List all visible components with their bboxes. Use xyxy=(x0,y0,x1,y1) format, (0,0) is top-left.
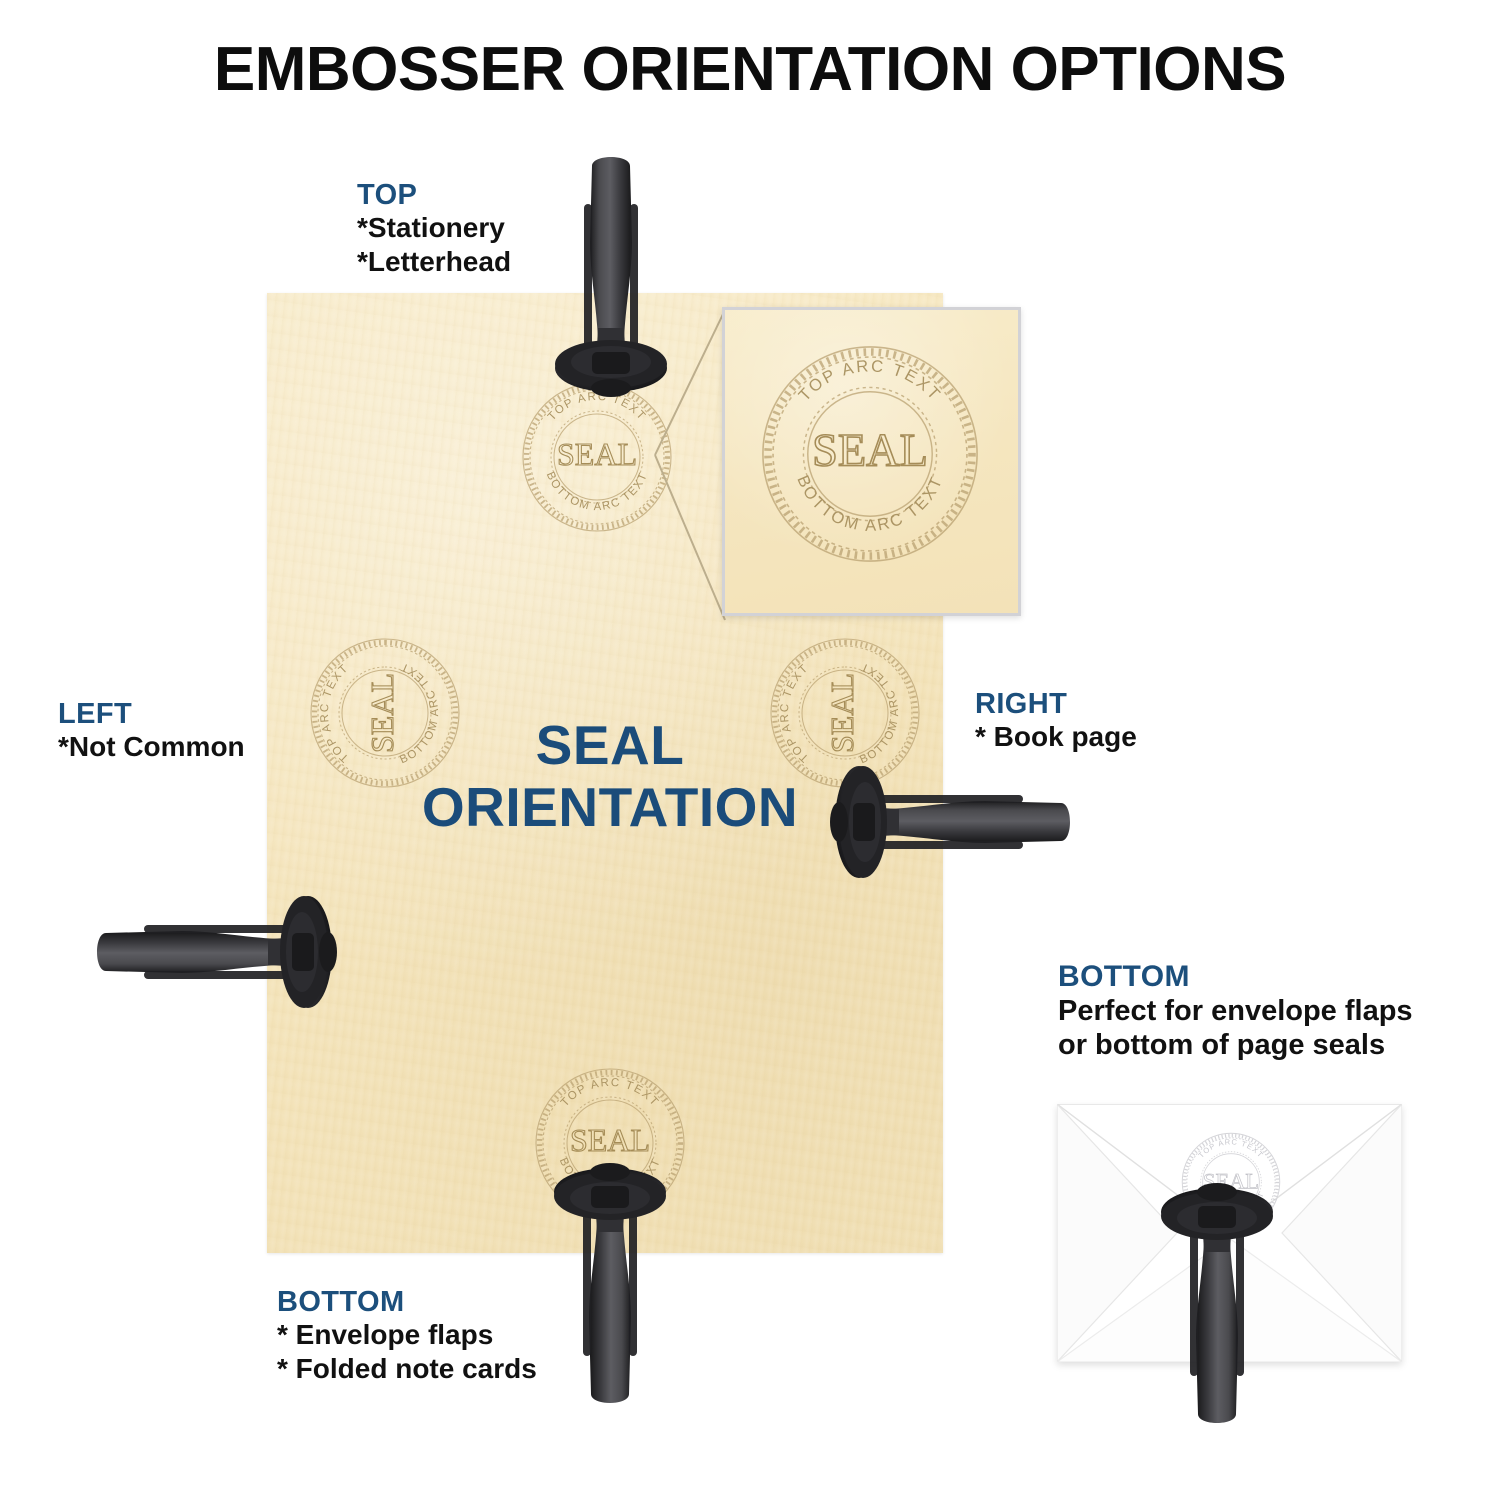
svg-text:SEAL: SEAL xyxy=(812,426,928,477)
callout-top-line-2: *Letterhead xyxy=(357,245,511,279)
embosser-tool-left[interactable] xyxy=(92,887,352,1017)
embosser-tool-envelope[interactable] xyxy=(1152,1168,1282,1428)
callout-bottom-envelope: BOTTOM Perfect for envelope flaps or bot… xyxy=(1058,960,1413,1063)
seal-bottom-arc-text: BOTTOM ARC TEXT xyxy=(544,470,650,513)
callout-bottom-page-heading: BOTTOM xyxy=(277,1286,537,1318)
callout-bottom-envelope-line-2: or bottom of page seals xyxy=(1058,1028,1413,1063)
center-label-line1: SEAL xyxy=(330,715,890,777)
infographic-canvas: EMBOSSER ORIENTATION OPTIONS TOP ARC TEX… xyxy=(0,0,1500,1500)
magnifier-callout-box: TOP ARC TEXT BOTTOM ARC TEXT SEAL xyxy=(722,307,1021,616)
callout-bottom-page: BOTTOM * Envelope flaps * Folded note ca… xyxy=(277,1286,537,1386)
center-seal-orientation-label: SEAL ORIENTATION xyxy=(330,715,890,838)
seal-center-text: SEAL xyxy=(557,436,637,472)
callout-right-heading: RIGHT xyxy=(975,688,1137,720)
callout-left-line-1: *Not Common xyxy=(58,730,245,764)
callout-bottom-envelope-heading: BOTTOM xyxy=(1058,960,1413,994)
callout-bottom-page-line-2: * Folded note cards xyxy=(277,1352,537,1386)
embosser-tool-icon xyxy=(815,757,1075,887)
callout-top-heading: TOP xyxy=(357,179,511,211)
svg-text:BOTTOM ARC TEXT: BOTTOM ARC TEXT xyxy=(544,470,650,513)
callout-left-heading: LEFT xyxy=(58,698,245,730)
callout-top-line-1: *Stationery xyxy=(357,211,511,245)
seal-impression-magnified: TOP ARC TEXT BOTTOM ARC TEXT SEAL xyxy=(747,331,993,577)
callout-right: RIGHT * Book page xyxy=(975,688,1137,754)
embosser-tool-icon xyxy=(92,887,352,1017)
svg-text:TOP ARC TEXT: TOP ARC TEXT xyxy=(559,1077,661,1109)
callout-right-line-1: * Book page xyxy=(975,720,1137,754)
embosser-tool-icon xyxy=(545,1148,675,1408)
embosser-tool-bottom[interactable] xyxy=(545,1148,675,1408)
svg-text:TOP ARC TEXT: TOP ARC TEXT xyxy=(1197,1137,1266,1159)
embosser-tool-icon xyxy=(1152,1168,1282,1428)
center-label-line2: ORIENTATION xyxy=(330,777,890,839)
callout-top: TOP *Stationery *Letterhead xyxy=(357,179,511,279)
embosser-tool-top[interactable] xyxy=(546,152,676,412)
callout-bottom-envelope-line-1: Perfect for envelope flaps xyxy=(1058,994,1413,1029)
callout-left: LEFT *Not Common xyxy=(58,698,245,764)
svg-text:TOP ARC TEXT: TOP ARC TEXT xyxy=(795,356,946,405)
embosser-tool-right[interactable] xyxy=(815,757,1075,887)
embosser-tool-icon xyxy=(546,152,676,412)
svg-text:BOTTOM ARC TEXT: BOTTOM ARC TEXT xyxy=(793,472,946,534)
callout-bottom-page-line-1: * Envelope flaps xyxy=(277,1318,537,1352)
page-title: EMBOSSER ORIENTATION OPTIONS xyxy=(0,34,1500,105)
